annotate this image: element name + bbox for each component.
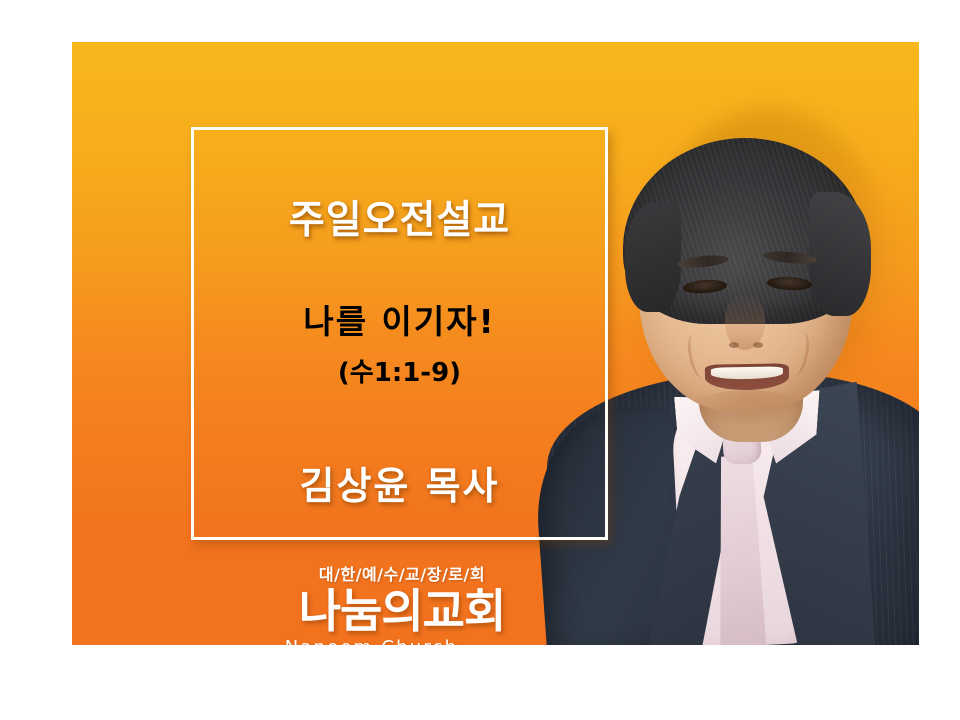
sermon-announcement-slide: 주일오전설교 나를 이기자! (수1:1-9) 김상윤 목사 대/한/예/수/교… <box>0 0 960 720</box>
logo-romanized-text: Nanoom Church <box>285 639 458 645</box>
sermon-text-block: 주일오전설교 나를 이기자! (수1:1-9) 김상윤 목사 <box>191 127 608 540</box>
service-label: 주일오전설교 <box>191 189 608 245</box>
hair-side-right <box>809 192 871 316</box>
hair-side-left <box>625 202 681 312</box>
nostril-right <box>753 342 763 348</box>
church-logo: 대/한/예/수/교/장/로/회 나눔의교회 Nanoom Church <box>262 567 542 645</box>
logo-wordmark-korean: 나눔의교회 <box>262 588 542 634</box>
nostril-left <box>729 342 739 348</box>
orange-gradient-panel: 주일오전설교 나를 이기자! (수1:1-9) 김상윤 목사 대/한/예/수/교… <box>72 42 919 645</box>
logo-romanized-row: Nanoom Church <box>262 639 542 645</box>
scripture-reference: (수1:1-9) <box>191 352 608 389</box>
logo-denomination-text: 대/한/예/수/교/장/로/회 <box>262 567 542 583</box>
teeth <box>711 366 783 379</box>
chin-shadow <box>693 390 803 424</box>
sermon-title: 나를 이기자! <box>191 295 608 343</box>
preacher-name: 김상윤 목사 <box>191 455 608 510</box>
